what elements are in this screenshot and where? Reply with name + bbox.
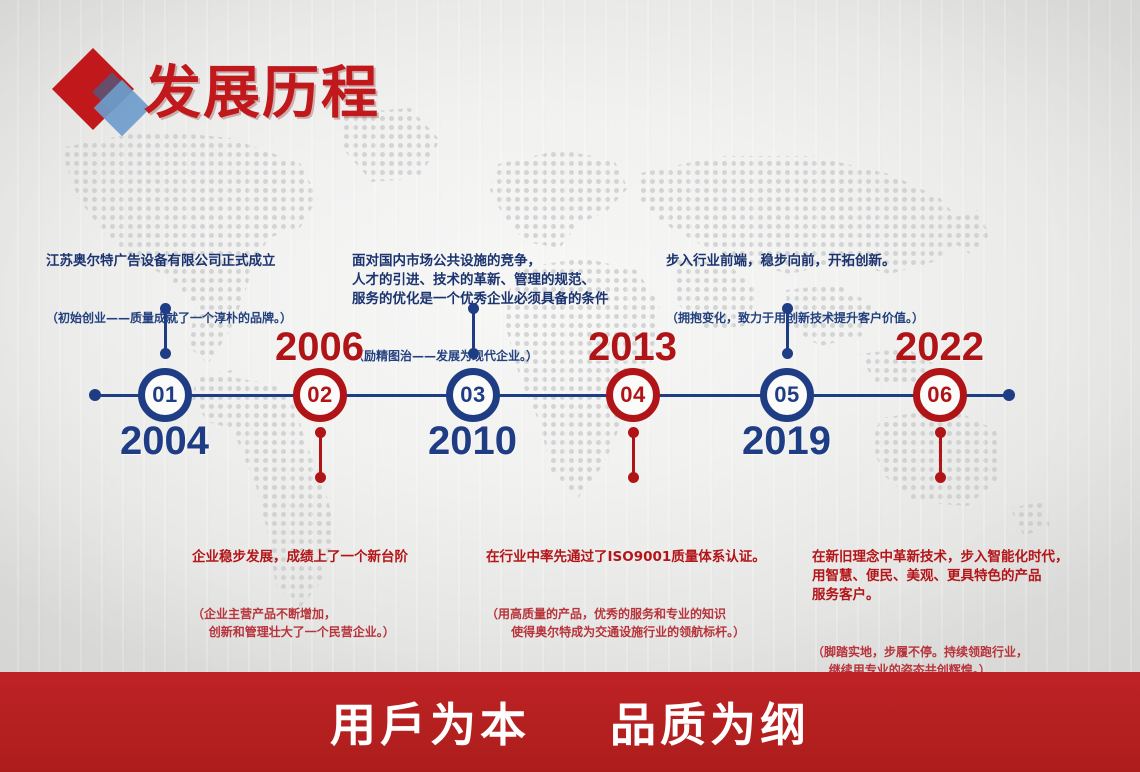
milestone-text-2004: 江苏奥尔特广告设备有限公司正式成立 （初始创业——质量成就了一个淳朴的品牌。） [46, 214, 292, 365]
connector-stem-2022 [939, 432, 942, 478]
timeline-axis-start-dot [89, 389, 101, 401]
milestone-text-2006: 企业稳步发展，成绩上了一个新台阶 （企业主营产品不断增加， 创新和管理壮大了一个… [192, 510, 408, 679]
node-number: 04 [620, 382, 645, 408]
stem-dot-bottom [315, 472, 326, 483]
node-number: 02 [307, 382, 332, 408]
node-number: 01 [152, 382, 177, 408]
timeline-year-2010: 2010 [428, 419, 517, 464]
poster-canvas: 发展历程 江苏奥尔特广告设备有限公司正式成立 （初始创业——质量成就了一个淳朴的… [0, 0, 1140, 772]
timeline-node-03[interactable]: 03 [446, 368, 500, 422]
stem-dot-top [935, 427, 946, 438]
timeline-node-02[interactable]: 02 [293, 368, 347, 422]
milestone-subtext: （励精图治——发展为现代企业。） [352, 347, 609, 365]
milestone-headline: 在新旧理念中革新技术，步入智能化时代， 用智慧、便民、美观、更具特色的产品 服务… [812, 548, 1069, 605]
timeline-axis [95, 394, 1013, 397]
stem-dot-top [628, 427, 639, 438]
timeline-node-06[interactable]: 06 [913, 368, 967, 422]
timeline-axis-end-dot [1003, 389, 1015, 401]
milestone-subtext: （拥抱变化，致力于用创新技术提升客户价值。） [666, 309, 924, 327]
connector-stem-2006 [319, 432, 322, 478]
page-title: 发展历程 [144, 54, 380, 132]
timeline-node-05[interactable]: 05 [760, 368, 814, 422]
node-number: 06 [927, 382, 952, 408]
timeline-year-2006: 2006 [275, 325, 364, 370]
node-number: 03 [460, 382, 485, 408]
timeline-year-2019: 2019 [742, 419, 831, 464]
connector-stem-2019 [786, 308, 789, 354]
bottom-slogan-banner: 用戶为本 品质为纲 [0, 672, 1140, 772]
timeline-node-01[interactable]: 01 [138, 368, 192, 422]
stem-dot-bottom [468, 348, 479, 359]
milestone-text-2019: 步入行业前端，稳步向前，开拓创新。 （拥抱变化，致力于用创新技术提升客户价值。） [666, 214, 924, 365]
milestone-headline: 江苏奥尔特广告设备有限公司正式成立 [46, 252, 292, 271]
connector-stem-2010 [472, 308, 475, 354]
slogan-text: 用戶为本 品质为纲 [330, 689, 810, 755]
stem-dot-top [468, 303, 479, 314]
timeline-year-2022: 2022 [895, 325, 984, 370]
connector-stem-2013 [632, 432, 635, 478]
stem-dot-top [160, 303, 171, 314]
milestone-headline: 面对国内市场公共设施的竞争， 人才的引进、技术的革新、管理的规范、 服务的优化是… [352, 252, 609, 309]
stem-dot-top [315, 427, 326, 438]
milestone-headline: 在行业中率先通过了ISO9001质量体系认证。 [486, 548, 766, 567]
timeline-node-04[interactable]: 04 [606, 368, 660, 422]
timeline-year-2013: 2013 [588, 325, 677, 370]
milestone-headline: 步入行业前端，稳步向前，开拓创新。 [666, 252, 924, 271]
stem-dot-bottom [782, 348, 793, 359]
node-number: 05 [774, 382, 799, 408]
stem-dot-bottom [935, 472, 946, 483]
stem-dot-top [782, 303, 793, 314]
milestone-headline: 企业稳步发展，成绩上了一个新台阶 [192, 548, 408, 567]
milestone-text-2013: 在行业中率先通过了ISO9001质量体系认证。 （用高质量的产品，优秀的服务和专… [486, 510, 766, 679]
milestone-subtext: （企业主营产品不断增加， 创新和管理壮大了一个民营企业。） [192, 605, 408, 641]
page-header-logo: 发展历程 [58, 58, 388, 136]
timeline-year-2004: 2004 [120, 419, 209, 464]
stem-dot-bottom [160, 348, 171, 359]
stem-dot-bottom [628, 472, 639, 483]
milestone-subtext: （用高质量的产品，优秀的服务和专业的知识 使得奥尔特成为交通设施行业的领航标杆。… [486, 605, 766, 641]
connector-stem-2004 [164, 308, 167, 354]
